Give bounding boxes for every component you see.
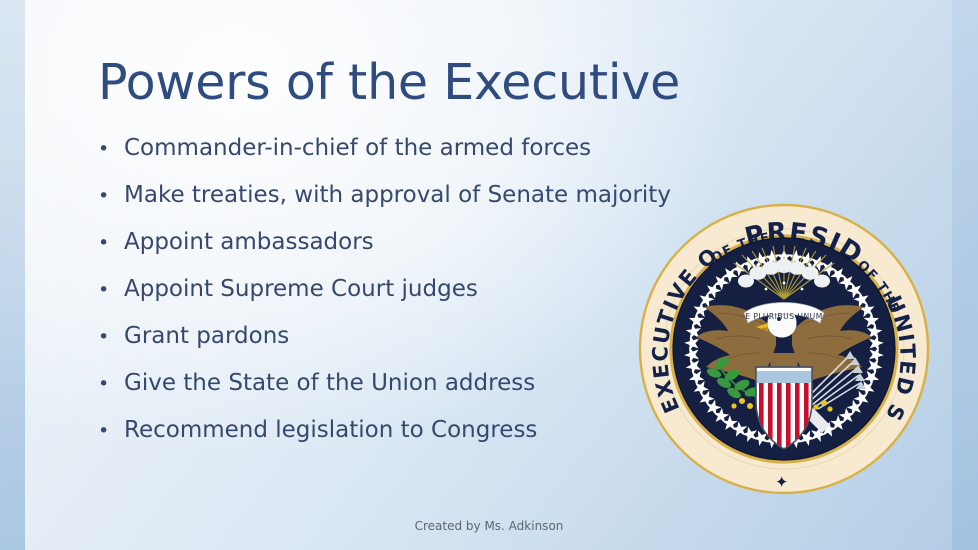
bullet-point-icon: • [98,422,124,441]
svg-text:✦: ✦ [775,472,789,491]
left-edge-band [0,0,25,550]
list-item-label: Appoint Supreme Court judges [124,276,478,302]
bullet-point-icon: • [98,187,124,206]
bullet-point-icon: • [98,328,124,347]
bullet-point-icon: • [98,281,124,300]
right-edge-band [952,0,978,550]
footer-credit: Created by Ms. Adkinson [0,519,978,533]
list-item-label: Make treaties, with approval of Senate m… [124,182,671,208]
list-item-label: Grant pardons [124,323,289,349]
presidential-seal-image: EXECUTIVE OFFICE OF THE PRESIDENT OF THE… [638,203,930,495]
list-item-label: Commander-in-chief of the armed forces [124,135,591,161]
list-item-label: Appoint ambassadors [124,229,374,255]
list-item-label: Give the State of the Union address [124,370,535,396]
seal-motto-text: E PLURIBUS UNUM [745,312,823,321]
bullet-point-icon: • [98,234,124,253]
bullet-point-icon: • [98,140,124,159]
slide: Powers of the Executive • Commander-in-c… [0,0,978,550]
list-item-label: Recommend legislation to Congress [124,417,537,443]
list-item: • Commander-in-chief of the armed forces [98,135,738,182]
bullet-point-icon: • [98,375,124,394]
page-title: Powers of the Executive [98,54,680,111]
